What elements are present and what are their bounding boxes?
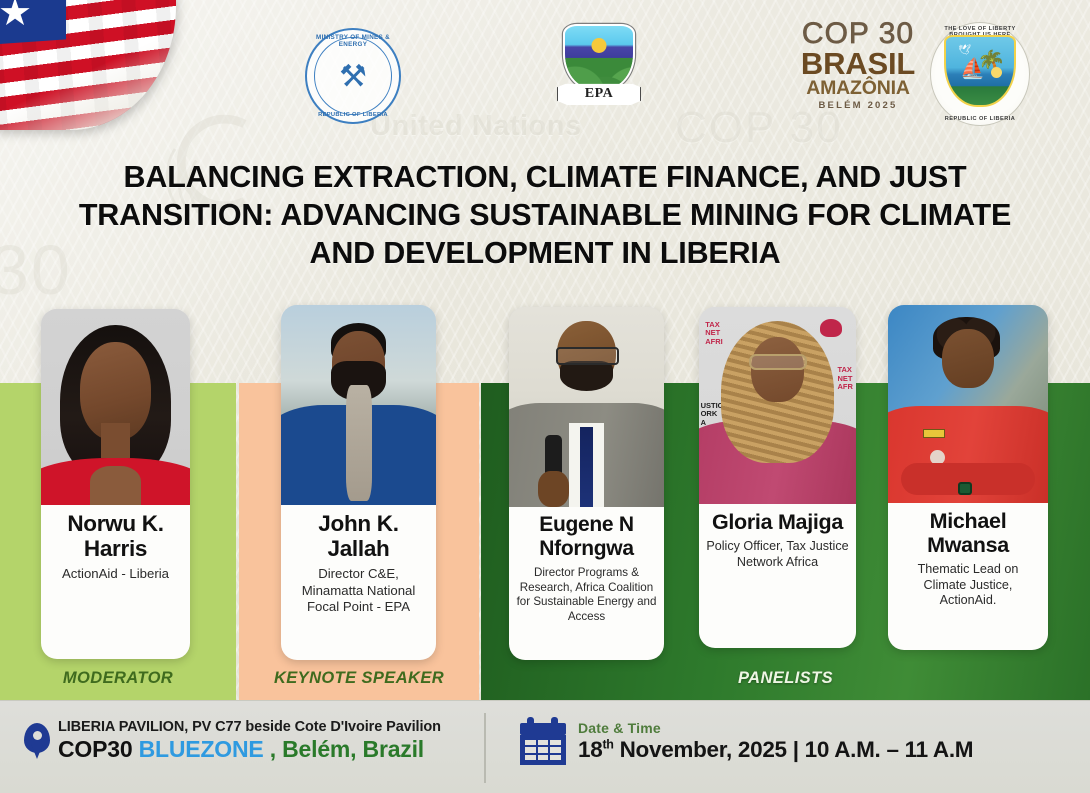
venue-main: COP30 BLUEZONE , Belém, Brazil <box>58 736 441 763</box>
speaker-card: TAXNETAFRI TAXNETAFR USTICORKA Gloria Ma… <box>699 307 856 648</box>
ministry-seal-top-text: MINISTRY OF MINES & ENERGY <box>305 34 401 48</box>
united-nations-watermark: United Nations <box>370 110 582 143</box>
speaker-photo <box>509 307 664 507</box>
liberia-seal-bottom-text: REPUBLIC OF LIBERIA <box>930 116 1030 122</box>
cop30-logo-line3: AMAZÔNIA <box>792 78 924 98</box>
datetime-label: Date & Time <box>578 720 973 736</box>
speaker-photo <box>281 305 436 505</box>
speaker-photo <box>41 309 190 505</box>
epa-label: EPA <box>585 86 613 102</box>
datetime-block: Date & Time 18th November, 2025 | 10 A.M… <box>520 717 973 765</box>
speaker-photo <box>888 305 1048 503</box>
date-day: 18 <box>578 737 602 762</box>
label-keynote-speaker: KEYNOTE SPEAKER <box>239 669 479 688</box>
speaker-role: ActionAid - Liberia <box>62 566 169 583</box>
speaker-name: John K. Jallah <box>288 511 429 561</box>
backdrop-text: TAXNETAFRI <box>705 321 723 347</box>
liberia-flag-icon: ★ <box>0 0 176 130</box>
ministry-seal-bottom-text: REPUBLIC OF LIBERIA <box>305 112 401 118</box>
cop30-logo-line1: COP 30 <box>792 20 924 49</box>
speaker-role: Policy Officer, Tax Justice Network Afri… <box>706 539 849 570</box>
speaker-card: Michael Mwansa Thematic Lead on Climate … <box>888 305 1048 650</box>
label-moderator: MODERATOR <box>0 669 236 688</box>
speaker-photo: TAXNETAFRI TAXNETAFR USTICORKA <box>699 307 856 504</box>
venue-cop30: COP30 <box>58 736 132 762</box>
speaker-name: Norwu K. Harris <box>48 511 183 561</box>
poster-title: BALANCING EXTRACTION, CLIMATE FINANCE, A… <box>60 158 1030 272</box>
cop30-brasil-logo: COP 30 BRASIL AMAZÔNIA BELÉM 2025 <box>792 20 924 125</box>
label-panelists: PANELISTS <box>481 669 1090 688</box>
venue-block: LIBERIA PAVILION, PV C77 beside Cote D'I… <box>24 719 441 763</box>
backdrop-text: TAXNETAFR <box>837 366 852 392</box>
speaker-role: Thematic Lead on Climate Justice, Action… <box>895 562 1041 609</box>
date-separator: | <box>787 737 805 762</box>
datetime-value: 18th November, 2025 | 10 A.M. – 11 A.M <box>578 737 973 763</box>
speaker-role: Director C&E, Minamatta National Focal P… <box>288 566 429 616</box>
speaker-name: Michael Mwansa <box>895 509 1041 557</box>
liberia-coat-of-arms-logo: THE LOVE OF LIBERTY BROUGHT US HERE 🕊 ⛵ … <box>930 22 1030 126</box>
ministry-of-mines-logo: MINISTRY OF MINES & ENERGY ⚒ REPUBLIC OF… <box>305 28 401 124</box>
calendar-icon <box>520 717 566 765</box>
time-range: 10 A.M. – 11 A.M <box>805 737 974 762</box>
venue-detail: LIBERIA PAVILION, PV C77 beside Cote D'I… <box>58 719 441 735</box>
speaker-card: Eugene N Nforngwa Director Programs & Re… <box>509 307 664 660</box>
date-ordinal: th <box>602 737 613 751</box>
cop30-logo-line4: BELÉM 2025 <box>792 100 924 111</box>
speaker-card: Norwu K. Harris ActionAid - Liberia <box>41 309 190 659</box>
event-poster: United Nations COP 30 30 ★ MINISTRY OF M… <box>0 0 1090 793</box>
date-rest: November, 2025 <box>614 737 787 762</box>
speaker-role: Director Programs & Research, Africa Coa… <box>516 566 657 624</box>
venue-city: , Belém, Brazil <box>270 736 424 762</box>
venue-bluezone: BLUEZONE <box>139 736 264 762</box>
mining-tools-icon: ⚒ <box>339 61 367 92</box>
map-pin-icon <box>24 723 50 759</box>
speaker-name: Eugene N Nforngwa <box>516 513 657 561</box>
footer-divider <box>484 713 486 783</box>
speaker-card: John K. Jallah Director C&E, Minamatta N… <box>281 305 436 660</box>
cop30-logo-line2: BRASIL <box>792 49 924 78</box>
epa-logo: EPA <box>557 22 641 114</box>
poster-footer: LIBERIA PAVILION, PV C77 beside Cote D'I… <box>0 700 1090 793</box>
speaker-name: Gloria Majiga <box>712 510 843 534</box>
